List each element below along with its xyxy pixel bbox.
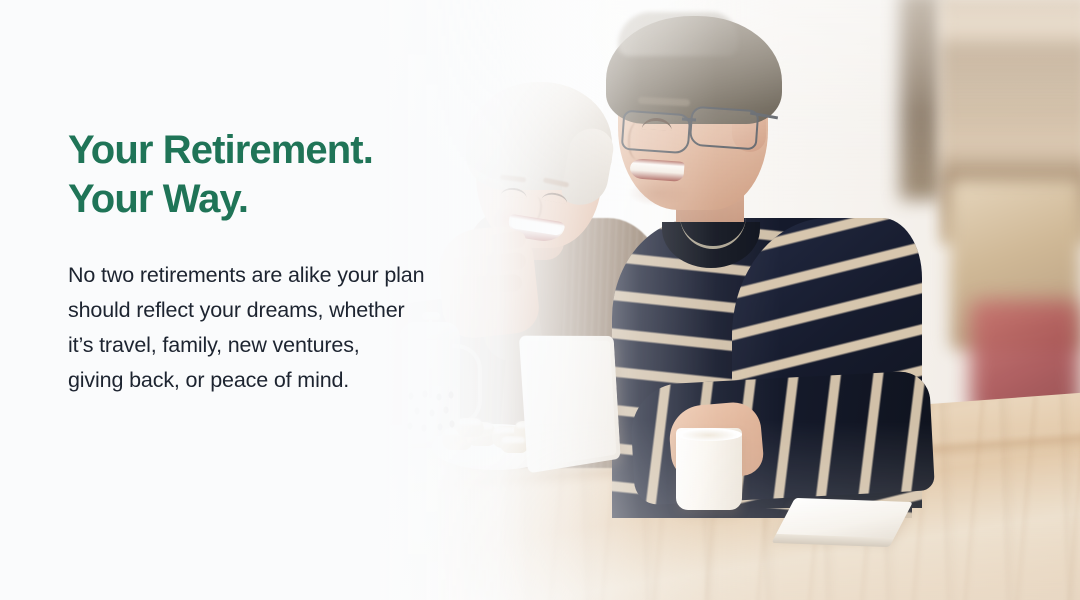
coffee-mug — [676, 428, 742, 510]
notebook — [775, 498, 913, 540]
mug-rim — [676, 428, 742, 441]
cookie — [456, 418, 484, 437]
subcopy-line-2: should reflect your dreams, whether — [68, 293, 498, 328]
eyeglasses-icon — [622, 106, 772, 150]
page-title: Your Retirement. Your Way. — [68, 126, 508, 224]
headline-line-1: Your Retirement. — [68, 126, 508, 175]
tablet-device[interactable] — [519, 336, 621, 474]
cookie — [500, 436, 528, 453]
retirement-hero-banner: Your Retirement. Your Way. No two retire… — [0, 0, 1080, 600]
hero-copy-block: Your Retirement. Your Way. No two retire… — [68, 126, 508, 398]
man-hair-highlight — [618, 12, 738, 56]
man-mouth — [629, 158, 684, 182]
eyeglass-lens-right — [689, 106, 760, 151]
background-column — [900, 0, 942, 200]
man-chin — [628, 180, 688, 206]
subcopy-line-4: giving back, or peace of mind. — [68, 363, 498, 398]
subcopy-line-3: it’s travel, family, new ventures, — [68, 328, 498, 363]
subcopy-line-1: No two retirements are alike your plan — [68, 258, 498, 293]
eyeglass-lens-left — [621, 110, 692, 155]
headline-line-2: Your Way. — [68, 175, 508, 224]
tablet-screen[interactable] — [524, 341, 616, 468]
mug-handle — [440, 26, 479, 86]
hero-subcopy: No two retirements are alike your plan s… — [68, 224, 498, 398]
